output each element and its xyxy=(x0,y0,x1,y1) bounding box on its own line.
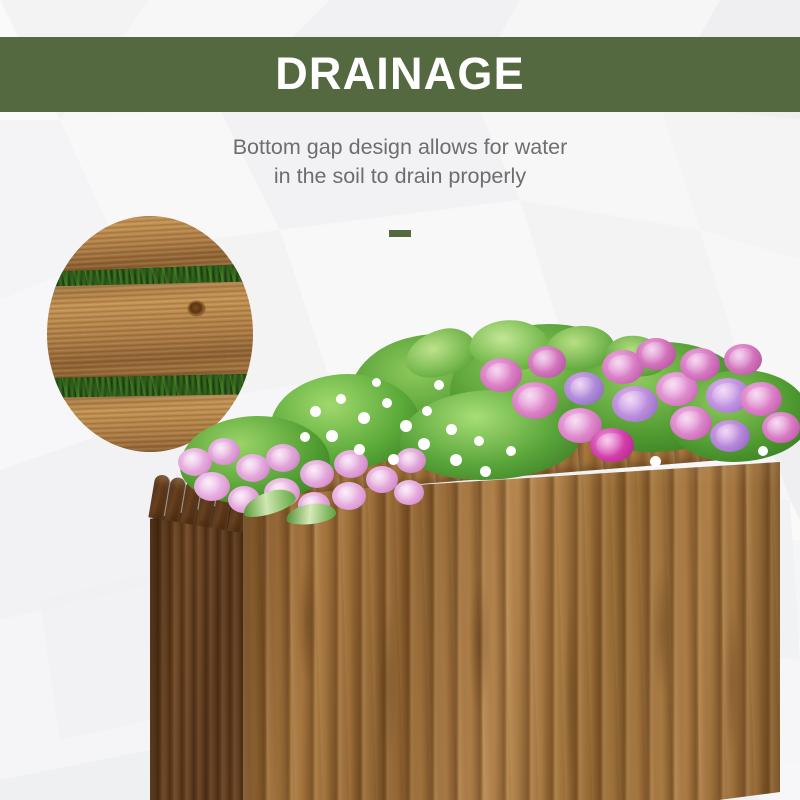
product-feature-panel: DRAINAGE Bottom gap design allows for wa… xyxy=(0,0,800,800)
flower-white xyxy=(418,438,430,450)
flower-white xyxy=(480,466,491,477)
flower-bloom xyxy=(740,382,782,416)
flower-white xyxy=(446,424,457,435)
flower-bloom xyxy=(612,386,658,422)
divider-dash xyxy=(389,230,411,237)
flower-white xyxy=(326,430,338,442)
flower-bloom xyxy=(512,382,558,419)
flower-bloom xyxy=(528,346,566,378)
flower-white xyxy=(474,436,484,446)
wood-knot-icon xyxy=(189,302,204,315)
flower-bloom xyxy=(394,480,424,505)
flower-bloom xyxy=(670,406,712,440)
flower-bloom xyxy=(710,420,750,452)
flower-white xyxy=(310,406,321,417)
flower-bloom xyxy=(300,460,334,488)
flower-bloom xyxy=(332,482,366,510)
flower-bloom xyxy=(564,372,604,405)
subtitle-line-1: Bottom gap design allows for water xyxy=(0,133,800,162)
flower-bloom xyxy=(334,450,368,478)
flower-white xyxy=(450,454,462,466)
flower-bloom xyxy=(636,338,676,370)
flower-bloom xyxy=(480,358,522,392)
flower-bloom xyxy=(194,472,230,501)
flower-white xyxy=(382,398,392,408)
planter-side-panel xyxy=(150,500,248,800)
flower-bloom xyxy=(266,444,300,472)
subtitle-line-2: in the soil to drain properly xyxy=(0,162,800,191)
flower-bloom xyxy=(680,348,720,381)
flower-white xyxy=(506,446,516,456)
flower-white xyxy=(336,394,346,404)
page-title: DRAINAGE xyxy=(275,51,525,98)
subtitle-block: Bottom gap design allows for water in th… xyxy=(0,133,800,191)
flower-white xyxy=(358,412,370,424)
plant-arrangement xyxy=(150,320,800,520)
flower-white xyxy=(758,446,768,456)
flower-bloom xyxy=(396,448,426,473)
flower-bloom xyxy=(208,438,240,465)
flower-white xyxy=(434,380,444,390)
flower-bloom xyxy=(724,344,762,375)
flower-bloom xyxy=(762,412,800,443)
flower-white xyxy=(650,456,661,467)
flower-bloom xyxy=(590,428,634,462)
flower-white xyxy=(388,454,399,465)
flower-white xyxy=(372,378,381,387)
flower-bloom xyxy=(236,454,270,482)
header-band: DRAINAGE xyxy=(0,37,800,112)
flower-white xyxy=(422,406,432,416)
flower-bloom xyxy=(366,466,398,493)
flower-white xyxy=(354,444,365,455)
flower-white xyxy=(400,420,412,432)
flower-white xyxy=(300,432,310,442)
